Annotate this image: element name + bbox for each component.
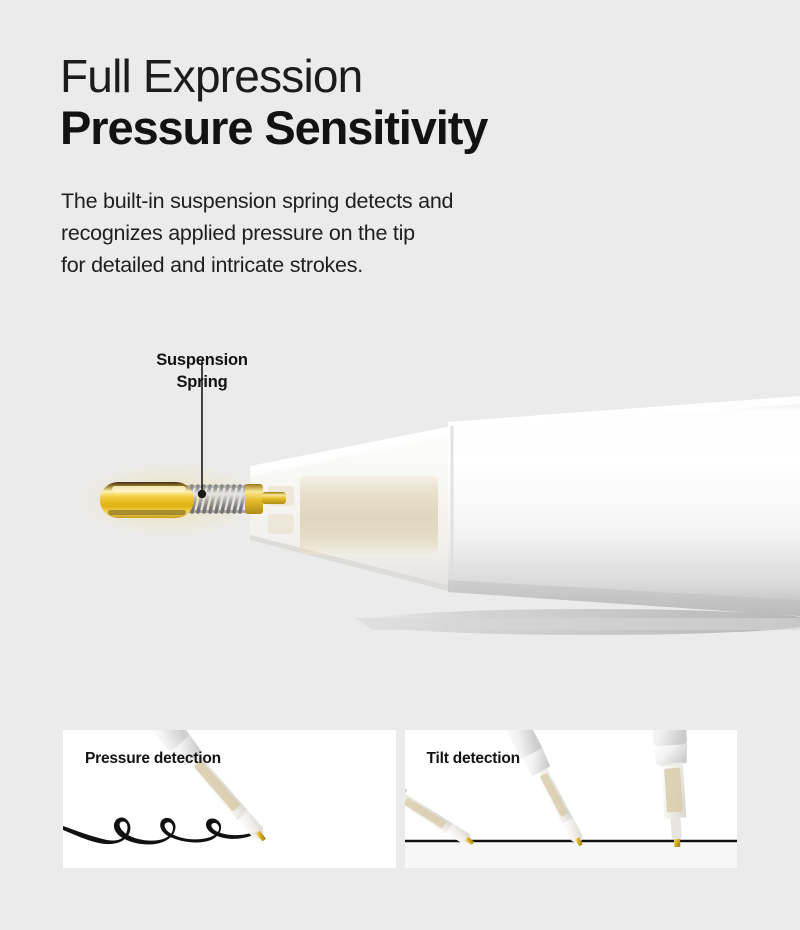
description-line-3: for detailed and intricate strokes. [61,250,661,282]
stylus-hero-image [0,300,800,700]
pressure-stroke [63,818,259,845]
panel-tilt-title: Tilt detection [427,750,520,768]
panel-pressure-detection: Pressure detection [63,730,396,868]
panel-tilt-detection: Tilt detection [405,730,738,868]
description-line-2: recognizes applied pressure on the tip [61,218,661,250]
tilt-stylus-upright [649,730,694,848]
translucent-cone [250,426,452,592]
headline-line-2: Pressure Sensitivity [60,102,740,154]
page-title: Full Expression Pressure Sensitivity [60,52,740,153]
description-text: The built-in suspension spring detects a… [61,186,661,281]
headline-line-1: Full Expression [60,52,740,102]
description-line-1: The built-in suspension spring detects a… [61,186,661,218]
gold-pen-tip [100,482,194,518]
detection-panels: Pressure detection [63,730,737,868]
panel-pressure-title: Pressure detection [85,750,221,768]
product-feature-page: Full Expression Pressure Sensitivity The… [0,0,800,930]
tilt-stylus-medium [496,730,590,851]
pen-barrel [448,396,800,616]
pressure-stylus [138,730,274,849]
pen-shadow [355,609,800,635]
